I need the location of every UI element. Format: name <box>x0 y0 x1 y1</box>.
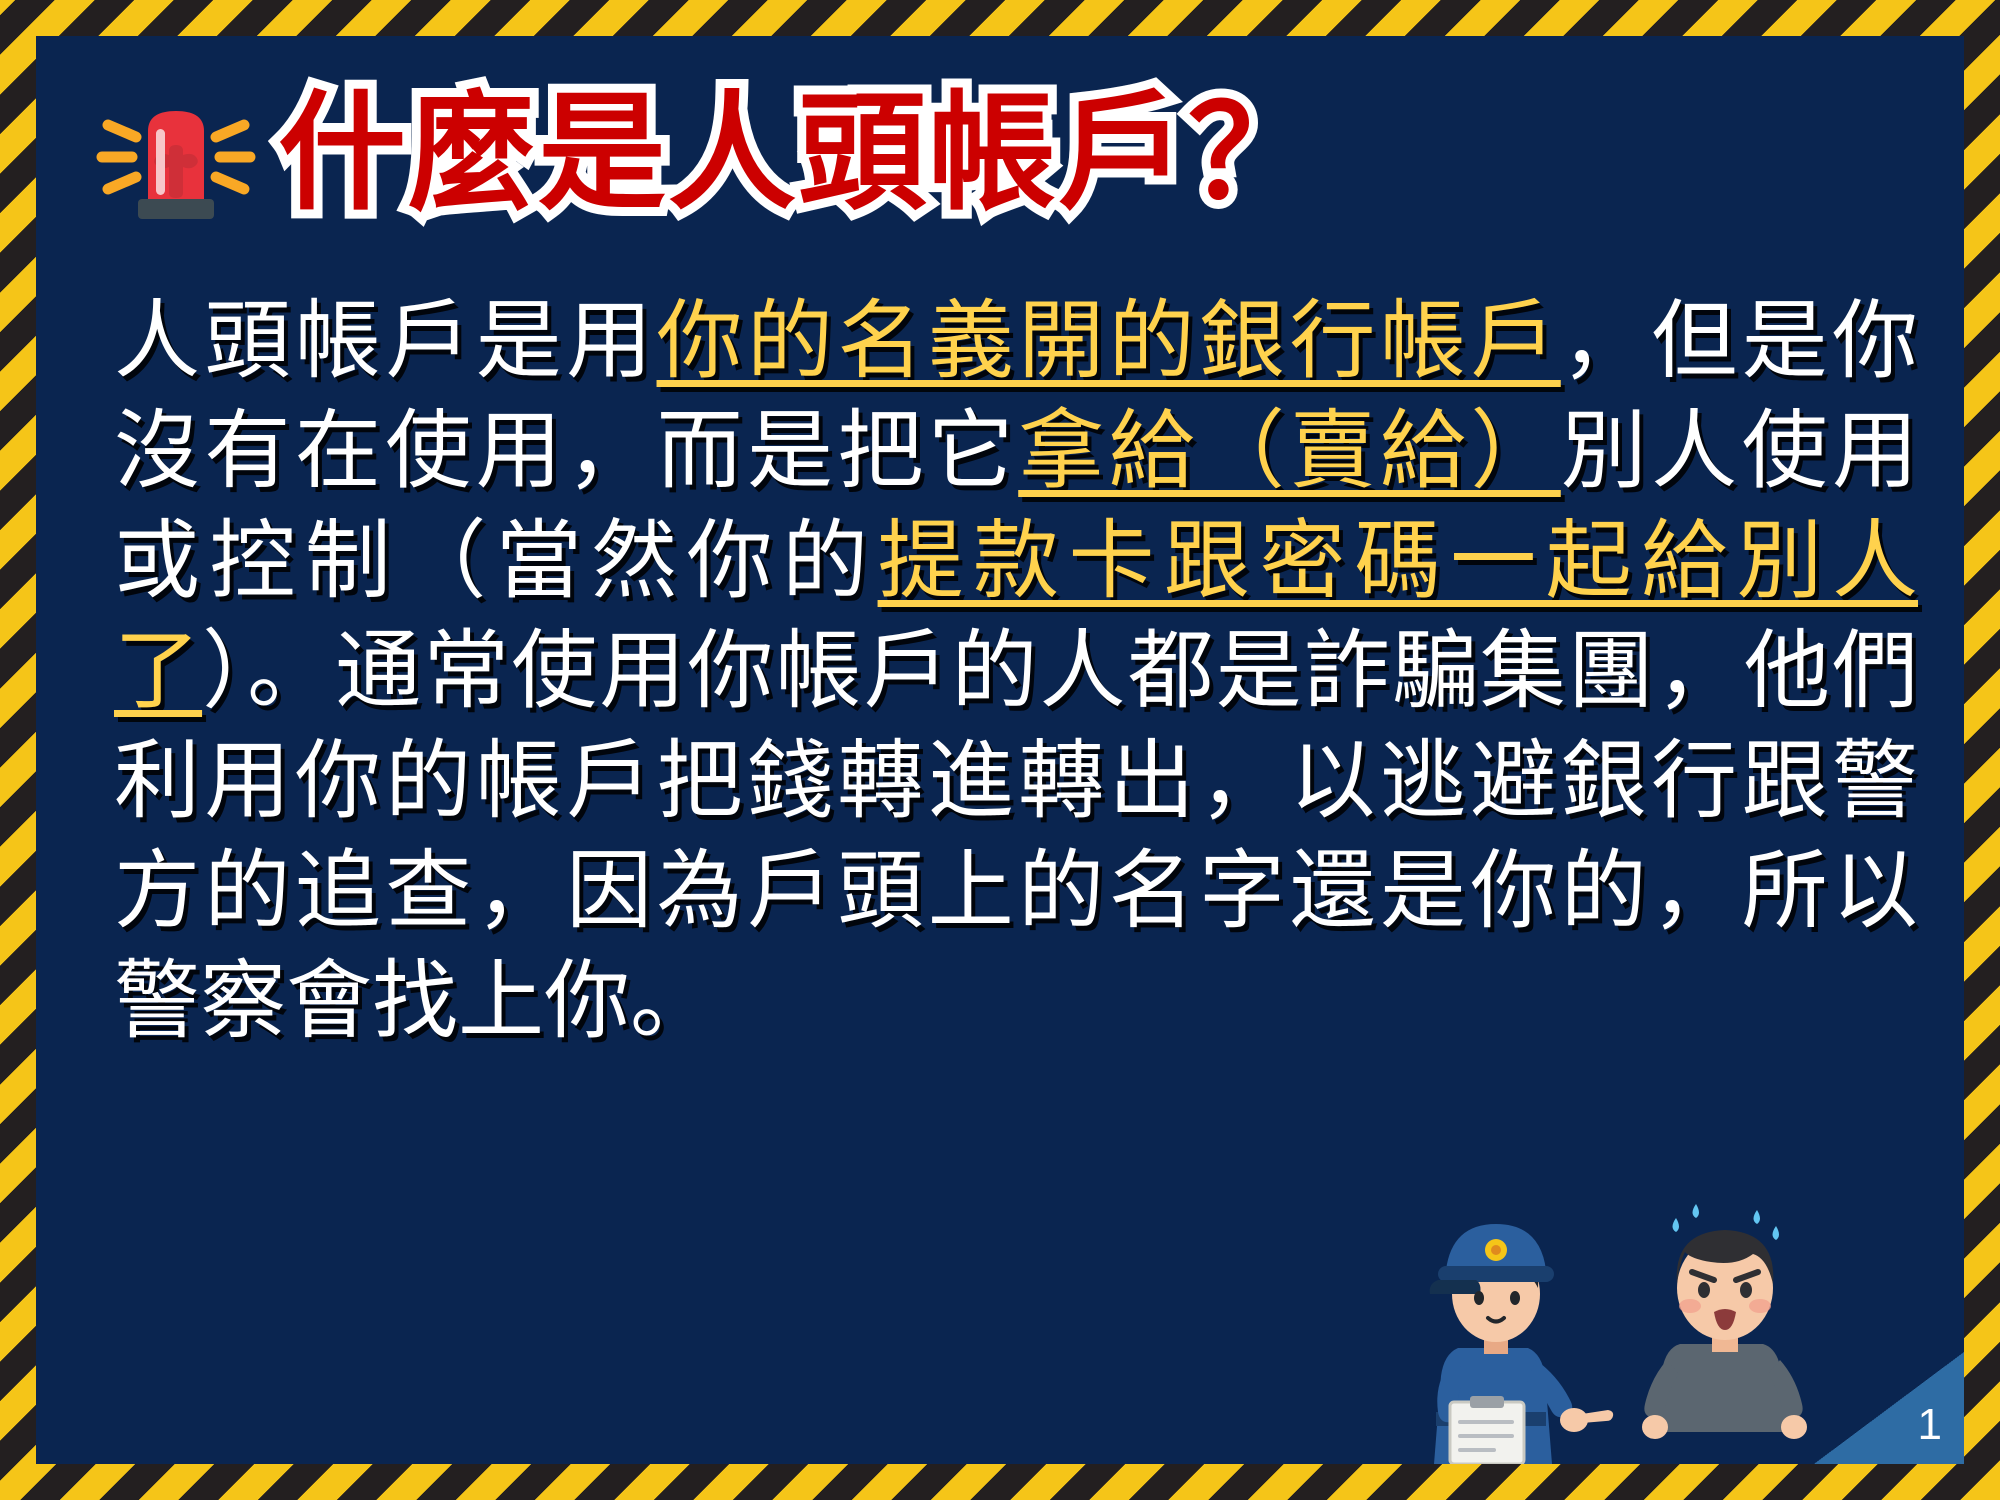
title-row: 什麼是人頭帳戶？ <box>96 74 1924 234</box>
page-title: 什麼是人頭帳戶？ <box>278 90 1318 218</box>
page-number: 1 <box>1918 1400 1942 1450</box>
slide-frame: 什麼是人頭帳戶？ 人頭帳戶是用你的名義開的銀行帳戶，但是你沒有在使用，而是把它拿… <box>0 0 2000 1500</box>
body-segment-highlight: 拿給（賣給） <box>1018 401 1561 501</box>
body-paragraph: 人頭帳戶是用你的名義開的銀行帳戶，但是你沒有在使用，而是把它拿給（賣給）別人使用… <box>114 286 1918 1057</box>
police-siren-icon <box>96 89 256 219</box>
body-segment-highlight: 你的名義開的銀行帳戶 <box>657 291 1561 391</box>
body-segment-plain: ）。通常使用你帳戶的人都是詐騙集團，他們利用你的帳戶把錢轉進轉出，以逃避銀行跟警… <box>114 621 1918 1051</box>
body-segment-plain: 人頭帳戶是用 <box>114 291 657 391</box>
police-officer-questioning-worried-man-illustration <box>1424 1184 1844 1464</box>
slide-content-area: 什麼是人頭帳戶？ 人頭帳戶是用你的名義開的銀行帳戶，但是你沒有在使用，而是把它拿… <box>36 36 1964 1464</box>
